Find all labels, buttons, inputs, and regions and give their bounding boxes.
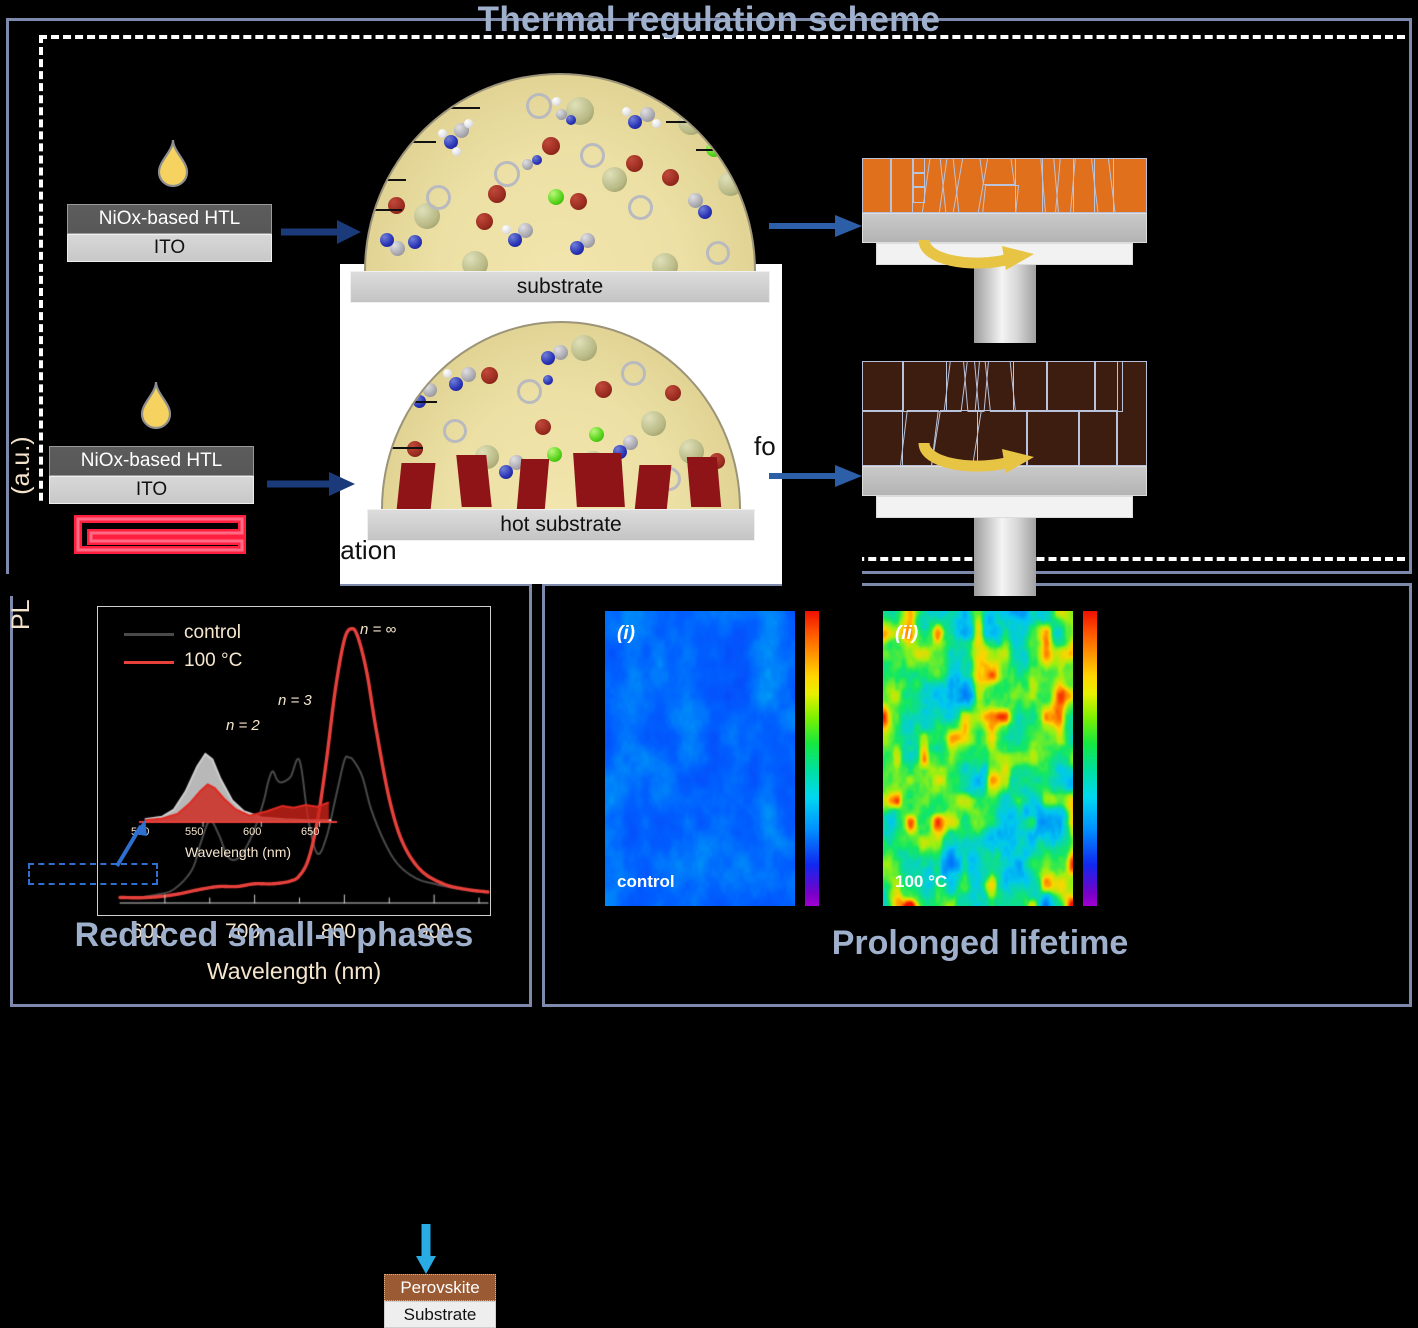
ito-layer-label: ITO [49, 476, 254, 504]
inset-tick-600: 600 [243, 826, 261, 838]
precursor-droplet-hot: hot substrate [381, 321, 741, 541]
film-stack-control [862, 158, 1147, 343]
nucleation-site [687, 457, 721, 507]
ammonium-molecule [423, 383, 437, 397]
film-stack-hot [862, 361, 1147, 596]
benzene-ring-molecule [580, 143, 605, 168]
benzene-ring-molecule [526, 93, 552, 119]
solution-dome [381, 321, 741, 509]
right-arrow-icon [769, 461, 864, 491]
htl-layer-label: NiOx-based HTL [49, 446, 254, 476]
thermal-regulation-panel: NiOx-based HTL ITO NiOx-based HTL ITO [6, 18, 1412, 574]
perovskite-film-small-grain [862, 158, 1147, 213]
benzene-ring-molecule [628, 195, 653, 220]
x-axis-label: Wavelength (nm) [97, 958, 491, 985]
legend-swatch-control [124, 633, 174, 636]
htl-layer-label: NiOx-based HTL [67, 204, 272, 234]
pl-map-image: (ii) 100 °C [883, 611, 1073, 906]
benzene-ring-molecule [494, 161, 520, 187]
for-text: fo [754, 431, 776, 462]
benzene-ring-molecule [443, 419, 467, 443]
device-stack-control: NiOx-based HTL ITO [67, 204, 272, 262]
inset-curves [135, 740, 341, 840]
right-arrow-icon [769, 211, 864, 241]
inset-x-axis-label: Wavelength (nm) [135, 844, 341, 860]
right-arrow-icon [281, 217, 363, 247]
map-index-label: (i) [617, 623, 635, 645]
substrate-band-label: Substrate [384, 1301, 496, 1328]
precursor-droplet-control: substrate [364, 73, 756, 303]
map-sample-label: 100 °C [895, 872, 947, 892]
perovskite-band-label: Perovskite [384, 1274, 496, 1301]
inset-tick-550: 550 [185, 826, 203, 838]
panel-caption-left: Reduced small-n phases [13, 916, 535, 955]
benzene-ring-molecule [517, 379, 542, 404]
droplet-icon [156, 139, 190, 189]
nucleation-site [517, 459, 549, 509]
benzene-ring-molecule [706, 241, 730, 265]
ammonium-molecule [461, 367, 476, 382]
legend-label-control: control [184, 622, 241, 644]
lifetime-map-control: (i) control [605, 611, 795, 906]
legend-label-100c: 100 °C [184, 650, 242, 672]
map-sample-label: control [617, 872, 675, 892]
nucleation-site [635, 465, 672, 509]
nucleation-site [456, 455, 491, 507]
ito-layer-label: ITO [67, 234, 272, 262]
up-left-arrow-icon [111, 820, 147, 868]
annotation-ninf: n = ∞ [360, 621, 396, 638]
rotation-arrow-icon [910, 220, 1060, 278]
pl-inset: 500 550 600 650 Wavelength (nm) [135, 740, 341, 858]
droplet-icon [139, 381, 173, 431]
colorbar-jet [1083, 611, 1097, 906]
rotation-arrow-icon [910, 423, 1060, 481]
down-arrow-icon [415, 1224, 437, 1276]
substrate-label: substrate [350, 271, 770, 303]
annotation-n3: n = 3 [278, 692, 312, 709]
stack-legend: Perovskite Substrate [384, 1274, 496, 1328]
spin-chuck [974, 518, 1036, 596]
nucleation-site [573, 453, 625, 507]
pl-lifetime-panel: (i) control (ii) 100 °C Prolonged lifeti… [542, 583, 1412, 1007]
right-arrow-icon [267, 469, 357, 499]
solution-dome [364, 73, 756, 271]
legend-swatch-100c [124, 661, 174, 664]
ammonium-molecule [553, 345, 568, 360]
heating-element-icon [71, 511, 249, 557]
colorbar-jet [805, 611, 819, 906]
annotation-n2: n = 2 [226, 717, 260, 734]
chuck-plate [876, 496, 1133, 518]
benzene-ring-molecule [621, 361, 646, 386]
pl-map-image: (i) control [605, 611, 795, 906]
nucleation-site [396, 463, 435, 509]
map-index-label: (ii) [895, 623, 918, 645]
inset-tick-650: 650 [301, 826, 319, 838]
benzene-ring-molecule [426, 185, 451, 210]
hot-substrate-label: hot substrate [367, 509, 755, 541]
pl-spectrum-panel: PL intensity (a.u.) control 100 °C n = 2… [10, 583, 532, 1007]
device-stack-hot: NiOx-based HTL ITO [49, 446, 254, 504]
panel-caption-right: Prolonged lifetime [545, 924, 1415, 963]
lifetime-map-100c: (ii) 100 °C [883, 611, 1073, 906]
